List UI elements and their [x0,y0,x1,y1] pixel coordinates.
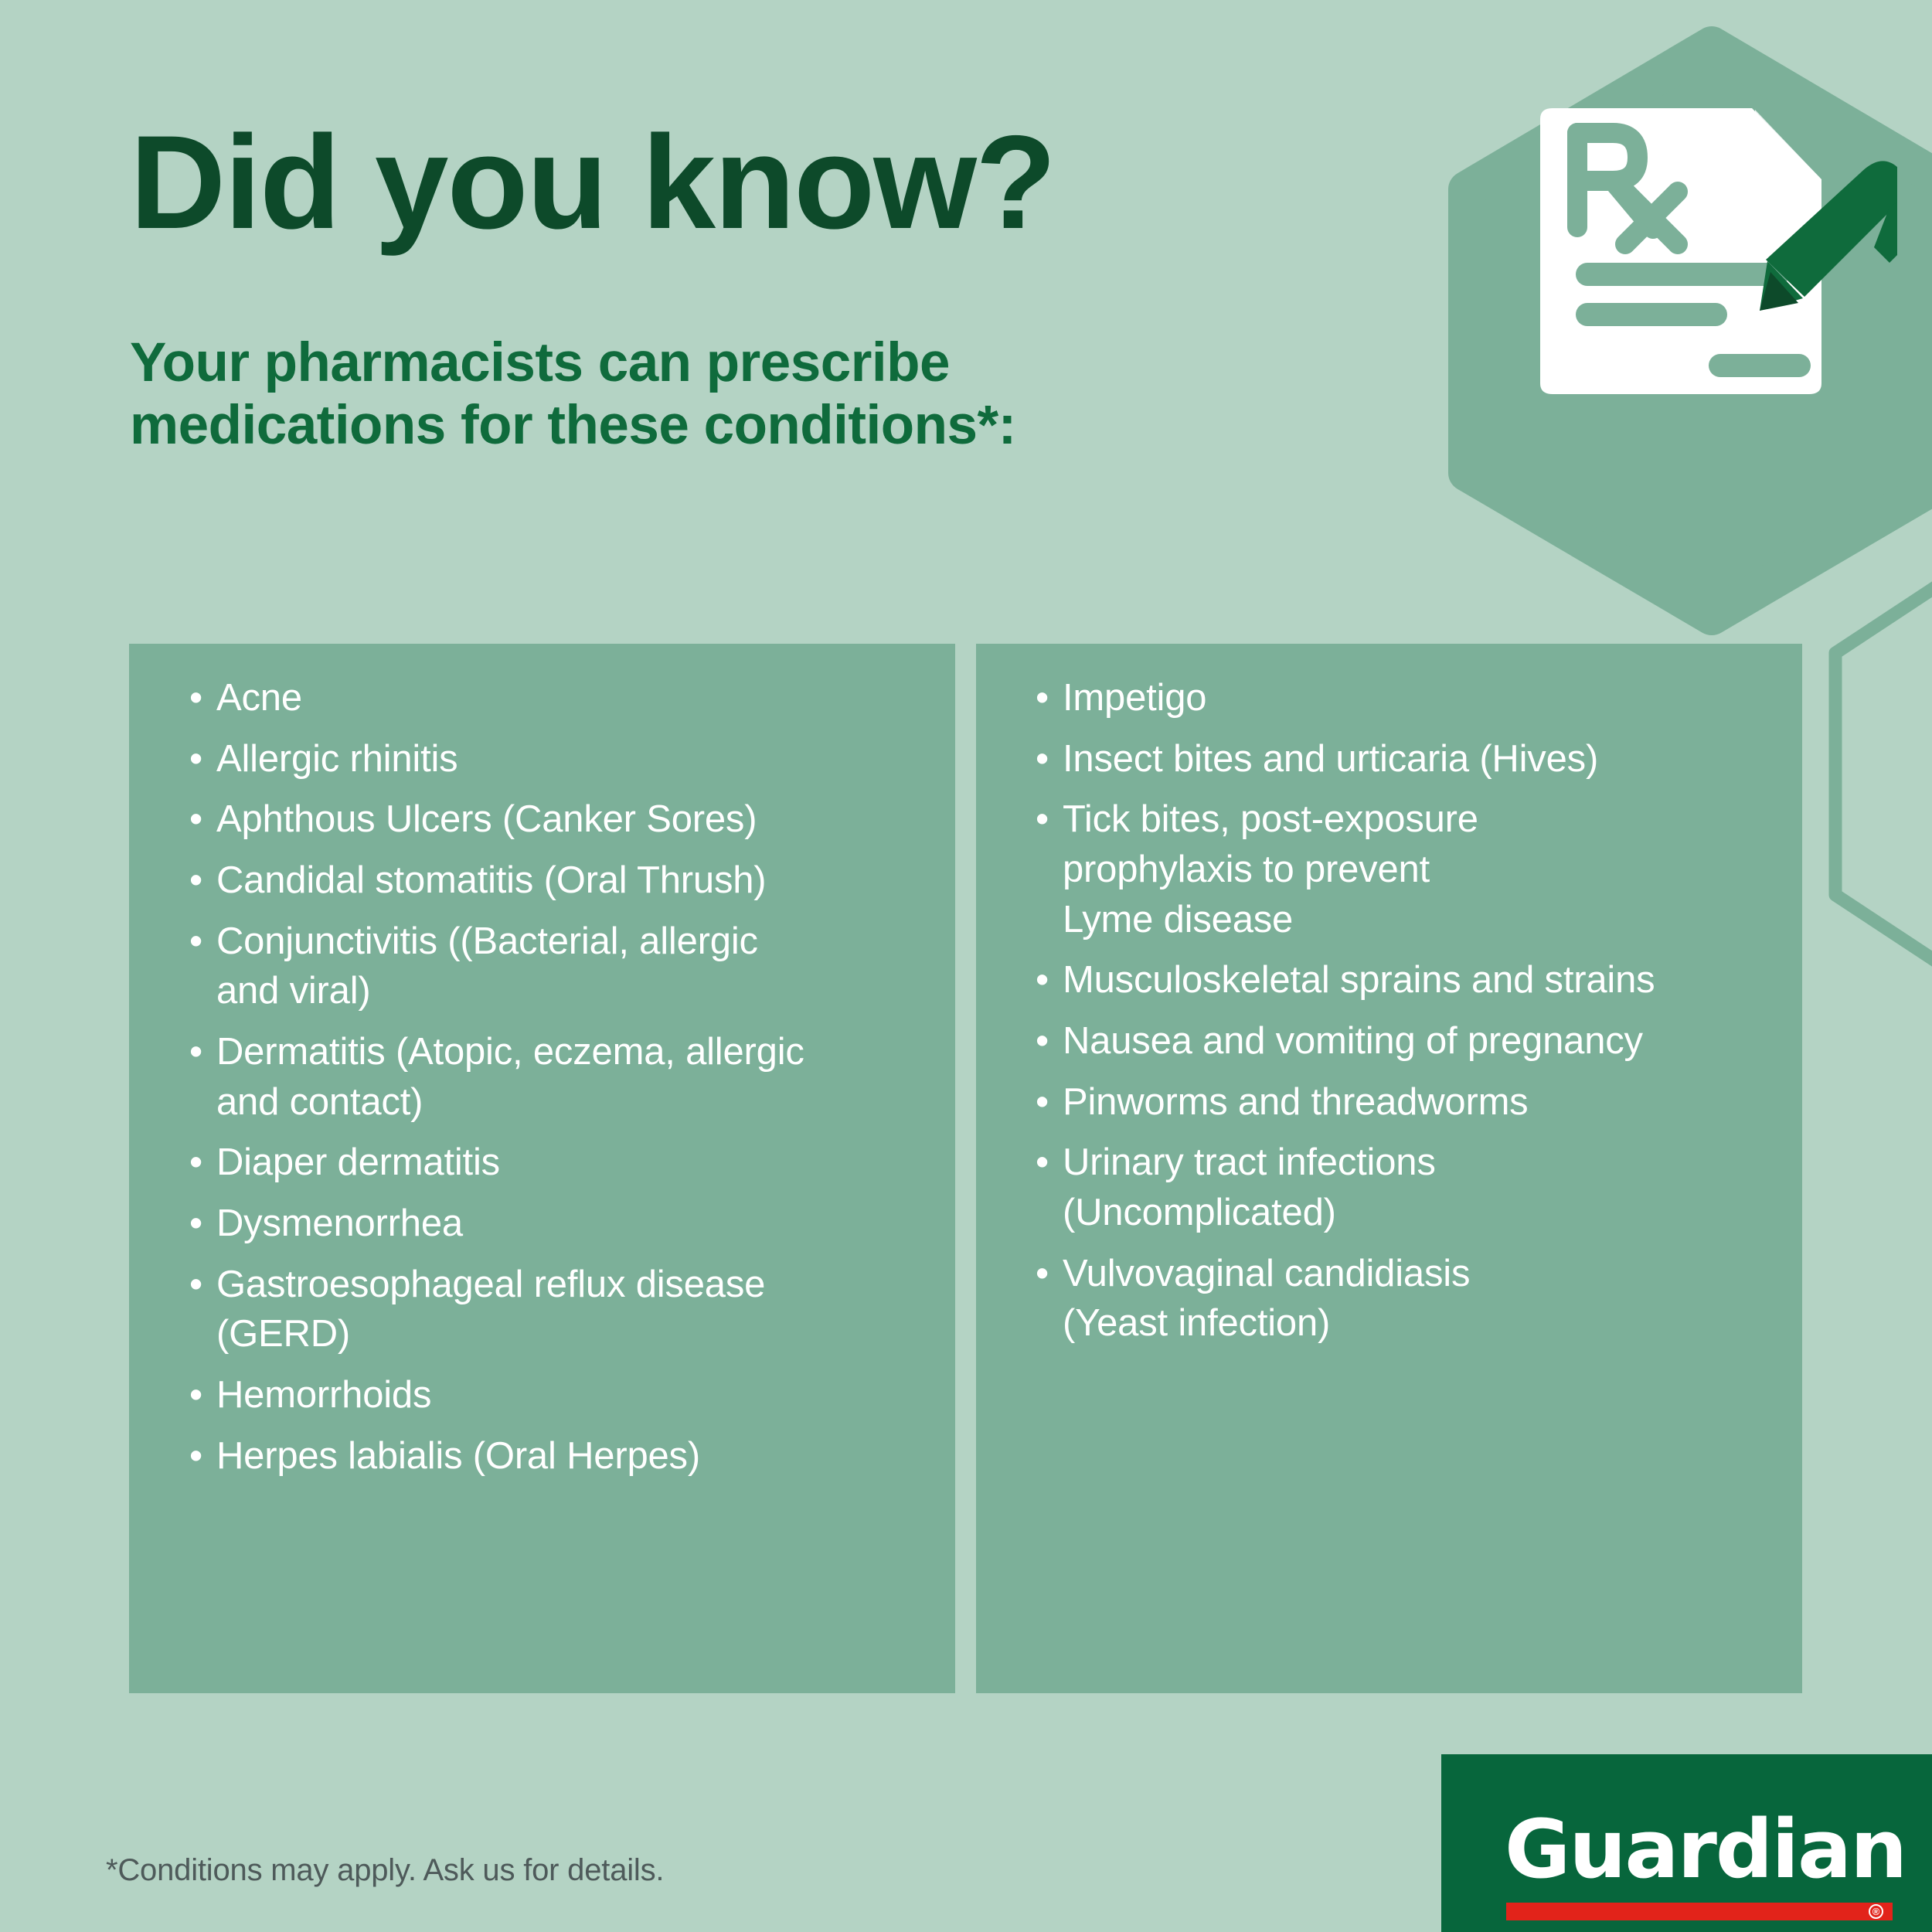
conditions-list-right: ImpetigoInsect bites and urticaria (Hive… [976,673,1802,1349]
guardian-wordmark: Guardian [1505,1802,1906,1896]
conditions-list-left: AcneAllergic rhinitisAphthous Ulcers (Ca… [129,673,955,1481]
condition-list-item: Allergic rhinitis [129,734,955,784]
condition-list-item: Nausea and vomiting of pregnancy [976,1016,1802,1066]
condition-list-item: Gastroesophageal reflux disease (GERD) [129,1260,955,1359]
document-line-2 [1576,303,1727,326]
condition-list-item: Dysmenorrhea [129,1199,955,1249]
header: Did you know? Your pharmacists can presc… [130,116,1366,457]
page-title: Did you know? [130,116,1366,249]
condition-list-item: Musculoskeletal sprains and strains [976,955,1802,1005]
condition-list-item: Dermatitis (Atopic, eczema, allergic and… [129,1027,955,1127]
condition-list-item: Pinworms and threadworms [976,1077,1802,1128]
footnote-disclaimer: *Conditions may apply. Ask us for detail… [106,1853,664,1888]
condition-list-item: Herpes labialis (Oral Herpes) [129,1431,955,1481]
document-signature-line [1709,354,1811,377]
condition-list-item: Hemorrhoids [129,1370,955,1420]
condition-list-item: Tick bites, post-exposure prophylaxis to… [976,794,1802,944]
page-subtitle: Your pharmacists can prescribe medicatio… [130,332,1366,457]
document-line-1 [1576,263,1789,286]
guardian-logo: Guardian ® [1441,1754,1932,1932]
condition-list-item: Insect bites and urticaria (Hives) [976,734,1802,784]
condition-list-item: Vulvovaginal candidiasis (Yeast infectio… [976,1249,1802,1349]
conditions-panels: AcneAllergic rhinitisAphthous Ulcers (Ca… [129,644,1802,1693]
hexagon-outline-shape [1835,533,1932,1015]
condition-list-item: Candidal stomatitis (Oral Thrush) [129,855,955,906]
condition-list-item: Conjunctivitis ((Bacterial, allergic and… [129,917,955,1016]
prescription-document-pencil-icon [1526,108,1897,433]
guardian-red-rule: ® [1506,1903,1893,1920]
conditions-panel-right: ImpetigoInsect bites and urticaria (Hive… [976,644,1802,1693]
registered-trademark-icon: ® [1869,1904,1883,1919]
condition-list-item: Acne [129,673,955,723]
panel-divider [955,644,976,1693]
condition-list-item: Diaper dermatitis [129,1138,955,1188]
condition-list-item: Aphthous Ulcers (Canker Sores) [129,794,955,845]
condition-list-item: Urinary tract infections (Uncomplicated) [976,1138,1802,1237]
conditions-panel-left: AcneAllergic rhinitisAphthous Ulcers (Ca… [129,644,955,1693]
condition-list-item: Impetigo [976,673,1802,723]
document-fold-corner [1755,110,1820,178]
